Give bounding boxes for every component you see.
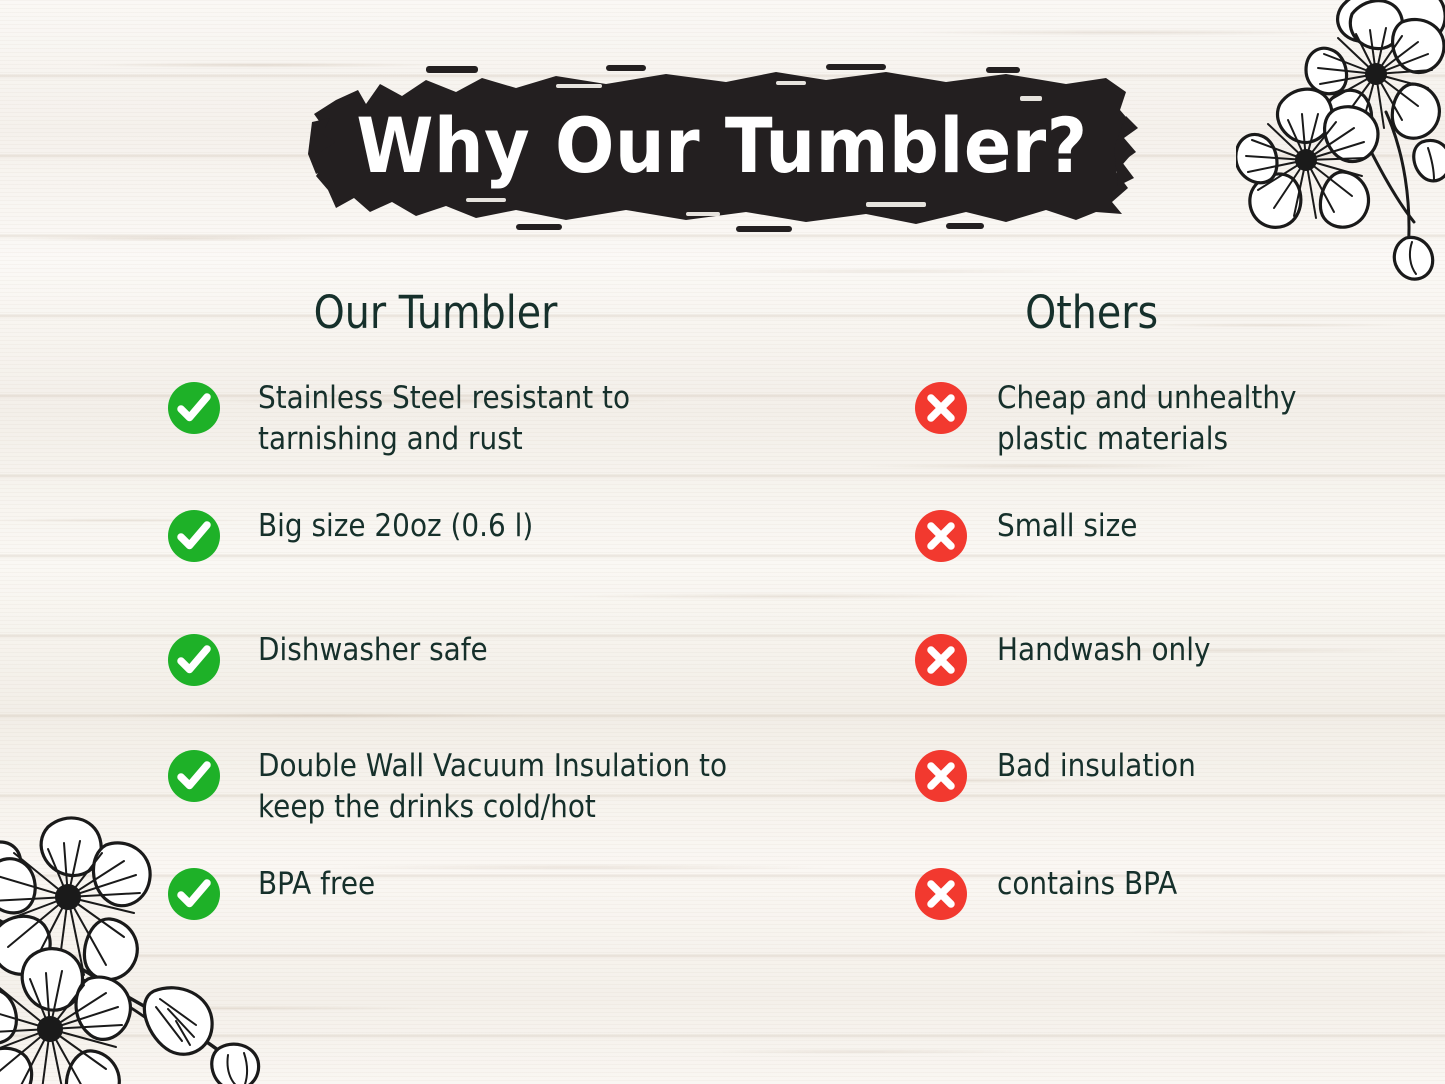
list-item: Cheap and unhealthy plastic materials — [915, 378, 1330, 460]
list-item-label: Handwash only — [997, 630, 1210, 671]
green-check-circle-icon — [168, 868, 220, 920]
red-cross-circle-icon — [915, 634, 967, 686]
green-check-circle-icon — [168, 750, 220, 802]
green-check-circle-icon — [168, 634, 220, 686]
list-item-label: Stainless Steel resistant to tarnishing … — [258, 378, 630, 460]
column-heading-our-tumbler: Our Tumbler — [314, 286, 558, 339]
list-item-label: Bad insulation — [997, 746, 1196, 787]
list-item-label: contains BPA — [997, 864, 1177, 905]
red-cross-circle-icon — [915, 510, 967, 562]
red-cross-circle-icon — [915, 750, 967, 802]
red-cross-circle-icon — [915, 382, 967, 434]
column-heading-others: Others — [1025, 286, 1158, 339]
list-item-label: Big size 20oz (0.6 l) — [258, 506, 533, 547]
list-item: contains BPA — [915, 864, 1197, 920]
green-check-circle-icon — [168, 382, 220, 434]
list-item-label: Cheap and unhealthy plastic materials — [997, 378, 1297, 460]
list-item: Dishwasher safe — [168, 630, 513, 686]
list-item: BPA free — [168, 864, 388, 920]
red-cross-circle-icon — [915, 868, 967, 920]
list-item: Double Wall Vacuum Insulation to keep th… — [168, 746, 779, 828]
title-banner: Why Our Tumbler? — [306, 62, 1138, 234]
comparison-infographic: Why Our Tumbler? Our Tumbler Others Stai… — [0, 0, 1445, 1084]
list-item: Bad insulation — [915, 746, 1218, 802]
list-item: Handwash only — [915, 630, 1234, 686]
green-check-circle-icon — [168, 510, 220, 562]
list-item-label: BPA free — [258, 864, 375, 905]
list-item-label: Dishwasher safe — [258, 630, 488, 671]
page-title: Why Our Tumbler? — [339, 62, 1104, 234]
list-item: Big size 20oz (0.6 l) — [168, 506, 564, 562]
list-item-label: Small size — [997, 506, 1137, 547]
list-item-label: Double Wall Vacuum Insulation to keep th… — [258, 746, 727, 828]
list-item: Stainless Steel resistant to tarnishing … — [168, 378, 671, 460]
list-item: Small size — [915, 506, 1153, 562]
